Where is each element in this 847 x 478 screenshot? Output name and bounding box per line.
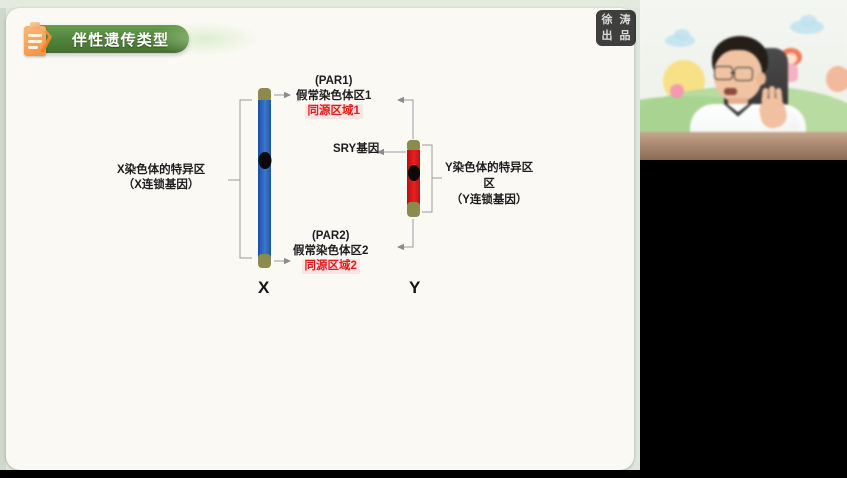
watermark-char: 品: [620, 31, 631, 42]
x-centromere: [258, 152, 271, 169]
label-par1: (PAR1) 假常染色体区1 同源区域1: [296, 74, 371, 119]
watermark-char: 出: [602, 31, 613, 42]
par2-code: (PAR2): [293, 229, 368, 244]
x-linked-gene: （X连锁基因）: [117, 178, 205, 193]
right-letterbox: [640, 160, 847, 478]
desk-surface: [640, 132, 847, 160]
slide-region: 伴性遗传类型: [0, 0, 640, 478]
x-par2-cap: [258, 254, 271, 268]
screen-root: 伴性遗传类型: [0, 0, 847, 478]
par2-homologous-text: 同源区域2: [302, 259, 360, 274]
label-par2: (PAR2) 假常染色体区2 同源区域2: [293, 229, 368, 274]
y-specific-title-wrap: 区: [445, 176, 533, 192]
par2-homologous: 同源区域2: [293, 259, 368, 274]
par1-name: 假常染色体区1: [296, 89, 371, 104]
flower-icon: [670, 84, 684, 98]
watermark-char: 涛: [620, 15, 631, 26]
x-long-arm: [258, 160, 271, 258]
y-specific-title: Y染色体的特异区: [445, 160, 533, 176]
par1-homologous-text: 同源区域1: [305, 104, 363, 119]
glasses-icon: [734, 67, 753, 81]
watermark-char: 徐: [602, 15, 613, 26]
x-chromosome-letter: X: [258, 278, 269, 298]
instructor-finger: [769, 86, 775, 102]
y-chromosome-letter: Y: [409, 278, 420, 298]
par1-homologous: 同源区域1: [296, 104, 371, 119]
background-figure: [826, 66, 847, 92]
y-chromosome: [407, 140, 420, 217]
chromosome-diagram: (PAR1) 假常染色体区1 同源区域1 SRY基因 (PAR2) 假常染色体区…: [0, 0, 640, 478]
x-chromosome: [258, 88, 271, 268]
label-sry-gene: SRY基因: [333, 142, 379, 157]
bottom-letterbox: [0, 470, 640, 478]
par2-name: 假常染色体区2: [293, 244, 368, 259]
y-par2-cap: [407, 202, 420, 217]
y-centromere: [408, 165, 420, 181]
instructor-video-feed[interactable]: [640, 0, 847, 160]
label-x-specific-region: X染色体的特异区 （X连锁基因）: [117, 163, 205, 193]
label-y-specific-region: Y染色体的特异区 区 （Y连锁基因）: [445, 160, 533, 208]
y-linked-gene: （Y连锁基因）: [445, 192, 533, 208]
instructor-ear: [756, 72, 766, 85]
instructor-finger: [775, 88, 783, 105]
channel-watermark: 徐 涛 出 品: [596, 10, 636, 46]
instructor-mouth: [724, 88, 737, 95]
glasses-bridge: [731, 72, 735, 74]
cloud-icon: [800, 15, 817, 27]
par1-code: (PAR1): [296, 74, 371, 89]
x-specific-title: X染色体的特异区: [117, 163, 205, 178]
